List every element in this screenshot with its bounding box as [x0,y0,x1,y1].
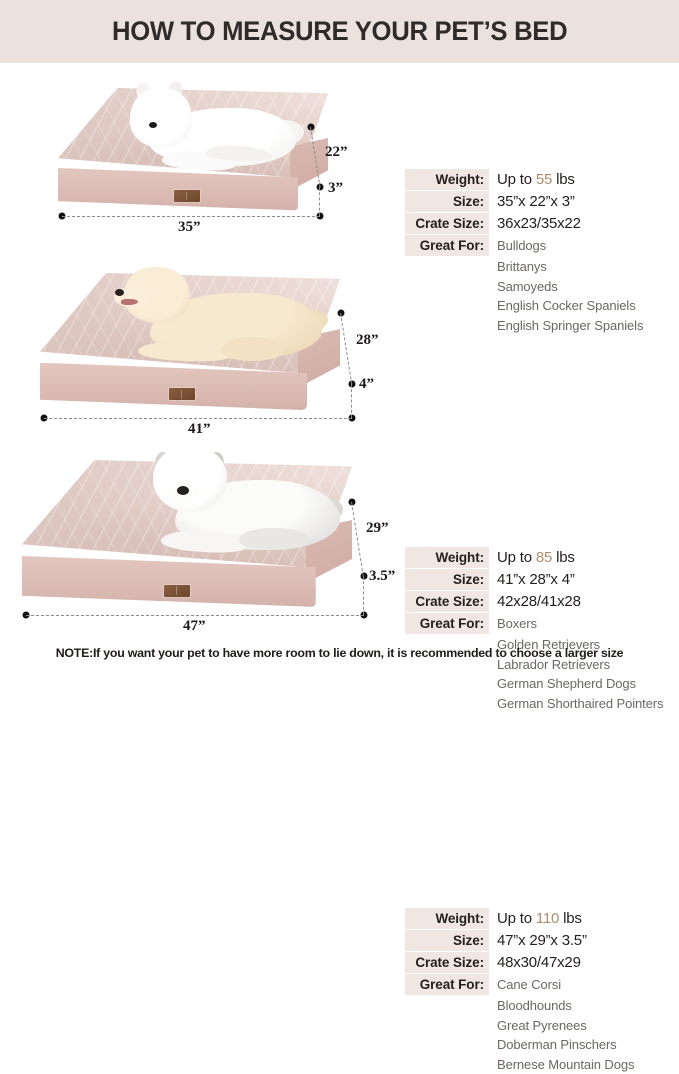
brand-leather-tag-icon [169,388,195,400]
dim-line-height [319,187,320,216]
breed-item: Doberman Pinschers [497,1035,679,1055]
spec-label-size: Size: [405,930,489,951]
footer-note: NOTE:If you want your pet to have more r… [0,646,679,660]
bed-row-medium: 41” 28” 4” Weight: Up to 85 lbs Size: 41… [0,248,679,438]
dog-head [130,88,192,148]
brand-leather-tag-icon [164,585,190,597]
spec-value-crate-size: 48x30/47x29 [489,952,581,973]
page-title: HOW TO MEASURE YOUR PET’S BED [112,16,567,47]
breed-item: Bloodhounds [497,996,679,1016]
dim-label-height: 3” [328,180,343,197]
golden-retriever-dog [102,259,327,379]
spec-block-large: Weight: Up to 110 lbs Size: 47”x 29”x 3.… [405,908,679,1074]
spec-row-weight: Weight: Up to 55 lbs [405,169,679,190]
bed-row-large: 47” 29” 3.5” Weight: Up to 110 lbs Size:… [0,430,679,635]
bed-illustration-medium [40,273,340,413]
bed-row-small: 35” 22” 3” Weight: Up to 55 lbs Size: 35… [0,66,679,246]
dim-label-width: 28” [356,332,379,349]
dim-label-width: 22” [325,144,348,161]
dim-line-length [62,216,320,217]
spec-value-size: 47”x 29”x 3.5” [489,930,587,951]
spec-row-crate-size: Crate Size: 48x30/47x29 [405,952,679,973]
spec-label-weight: Weight: [405,169,489,190]
dim-line-length [44,418,352,419]
large-white-mastiff-dog [127,444,342,569]
dim-label-length: 35” [178,219,201,236]
bed-illustration-large [22,460,352,610]
samoyed-white-dog [110,80,300,180]
spec-value-weight: Up to 55 lbs [489,169,575,190]
spec-row-crate-size: Crate Size: 36x23/35x22 [405,213,679,234]
dog-muzzle [145,120,169,137]
breed-item: German Shorthaired Pointers [497,694,679,714]
dim-line-height [363,576,364,615]
dog-muzzle [167,482,199,506]
spec-label-weight: Weight: [405,908,489,929]
dog-rear-leg [239,528,309,550]
header-band: HOW TO MEASURE YOUR PET’S BED [0,0,679,63]
spec-row-size: Size: 47”x 29”x 3.5” [405,930,679,951]
bed-illustration-small [58,88,328,213]
spec-value-size: 35”x 22”x 3” [489,191,575,212]
breed-item: Cane Corsi [489,974,561,995]
spec-label-crate-size: Crate Size: [405,952,489,973]
spec-label-size: Size: [405,191,489,212]
spec-row-great-for: Great For: Cane Corsi [405,974,679,995]
brand-leather-tag-icon [174,190,200,202]
breed-item: German Shepherd Dogs [497,674,679,694]
dim-line-width [351,502,364,576]
dim-label-height: 4” [359,376,374,393]
dim-line-width [340,313,352,384]
dim-line-height [351,384,352,418]
dim-line-length [26,615,364,616]
spec-value-weight: Up to 110 lbs [489,908,582,929]
spec-label-great-for: Great For: [405,974,489,995]
spec-value-crate-size: 36x23/35x22 [489,213,581,234]
dim-label-width: 29” [366,520,389,537]
spec-row-weight: Weight: Up to 110 lbs [405,908,679,929]
breed-list: Bloodhounds Great Pyrenees Doberman Pins… [405,996,679,1074]
dim-label-length: 47” [183,618,206,635]
dim-label-height: 3.5” [369,568,395,585]
dog-muzzle [114,287,148,307]
dog-rear-leg [222,337,284,361]
spec-row-size: Size: 35”x 22”x 3” [405,191,679,212]
spec-label-crate-size: Crate Size: [405,213,489,234]
breed-item: Great Pyrenees [497,1016,679,1036]
breed-item: Bernese Mountain Dogs [497,1055,679,1074]
